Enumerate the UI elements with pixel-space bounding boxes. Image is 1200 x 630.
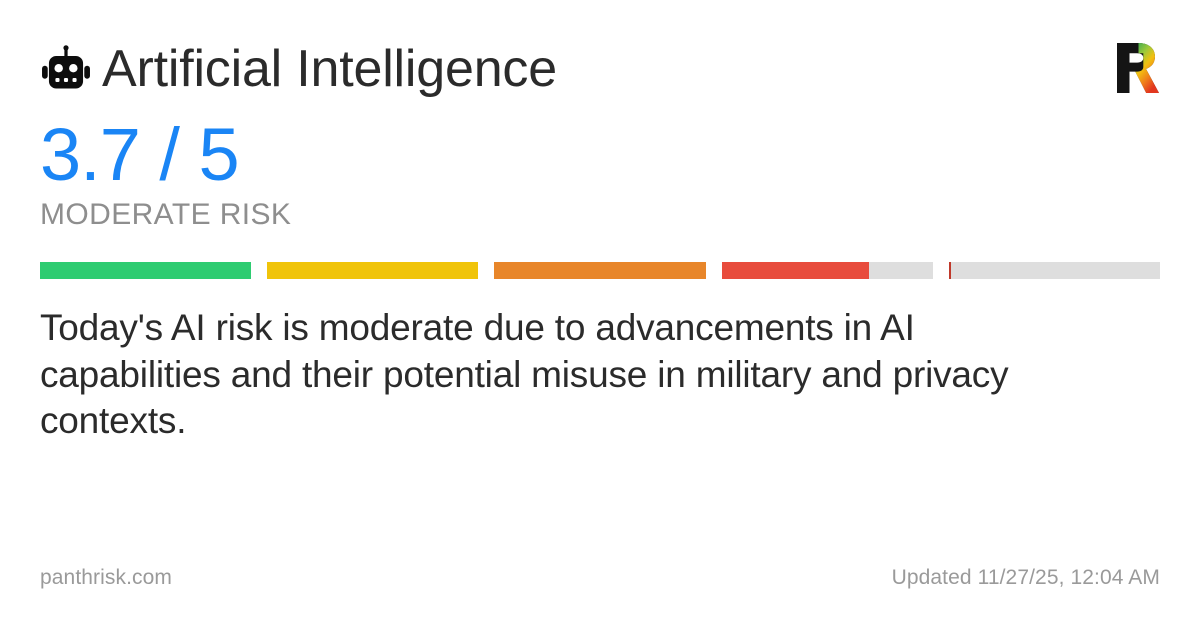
meter-segment-guarded-fill	[267, 262, 478, 279]
meter-segment-low-fill	[40, 262, 251, 279]
meter-segment-severe-fill	[949, 262, 951, 279]
risk-summary-text: Today's AI risk is moderate due to advan…	[40, 305, 1080, 445]
meter-segment-low	[40, 262, 251, 279]
topic-heading: Artificial Intelligence	[40, 42, 557, 97]
card-footer: panthrisk.com Updated 11/27/25, 12:04 AM	[40, 566, 1160, 590]
page-title: Artificial Intelligence	[102, 42, 557, 97]
score-block: 3.7 / 5 MODERATE RISK	[40, 118, 1160, 230]
site-name: panthrisk.com	[40, 566, 172, 590]
updated-timestamp: Updated 11/27/25, 12:04 AM	[892, 566, 1160, 590]
risk-level-label: MODERATE RISK	[40, 200, 1160, 230]
risk-summary-card: Artificial Intelligence 3.7 / 5 MODERATE…	[0, 0, 1200, 630]
meter-segment-high-fill	[722, 262, 870, 279]
risk-meter	[40, 262, 1160, 279]
meter-segment-high	[722, 262, 933, 279]
meter-segment-severe	[949, 262, 1160, 279]
meter-segment-guarded	[267, 262, 478, 279]
meter-segment-elevated-fill	[494, 262, 705, 279]
card-header: Artificial Intelligence	[40, 40, 1160, 112]
brand-logo-icon	[1114, 42, 1160, 94]
robot-icon	[40, 43, 92, 95]
meter-segment-elevated	[494, 262, 705, 279]
score-value: 3.7 / 5	[40, 118, 1160, 192]
